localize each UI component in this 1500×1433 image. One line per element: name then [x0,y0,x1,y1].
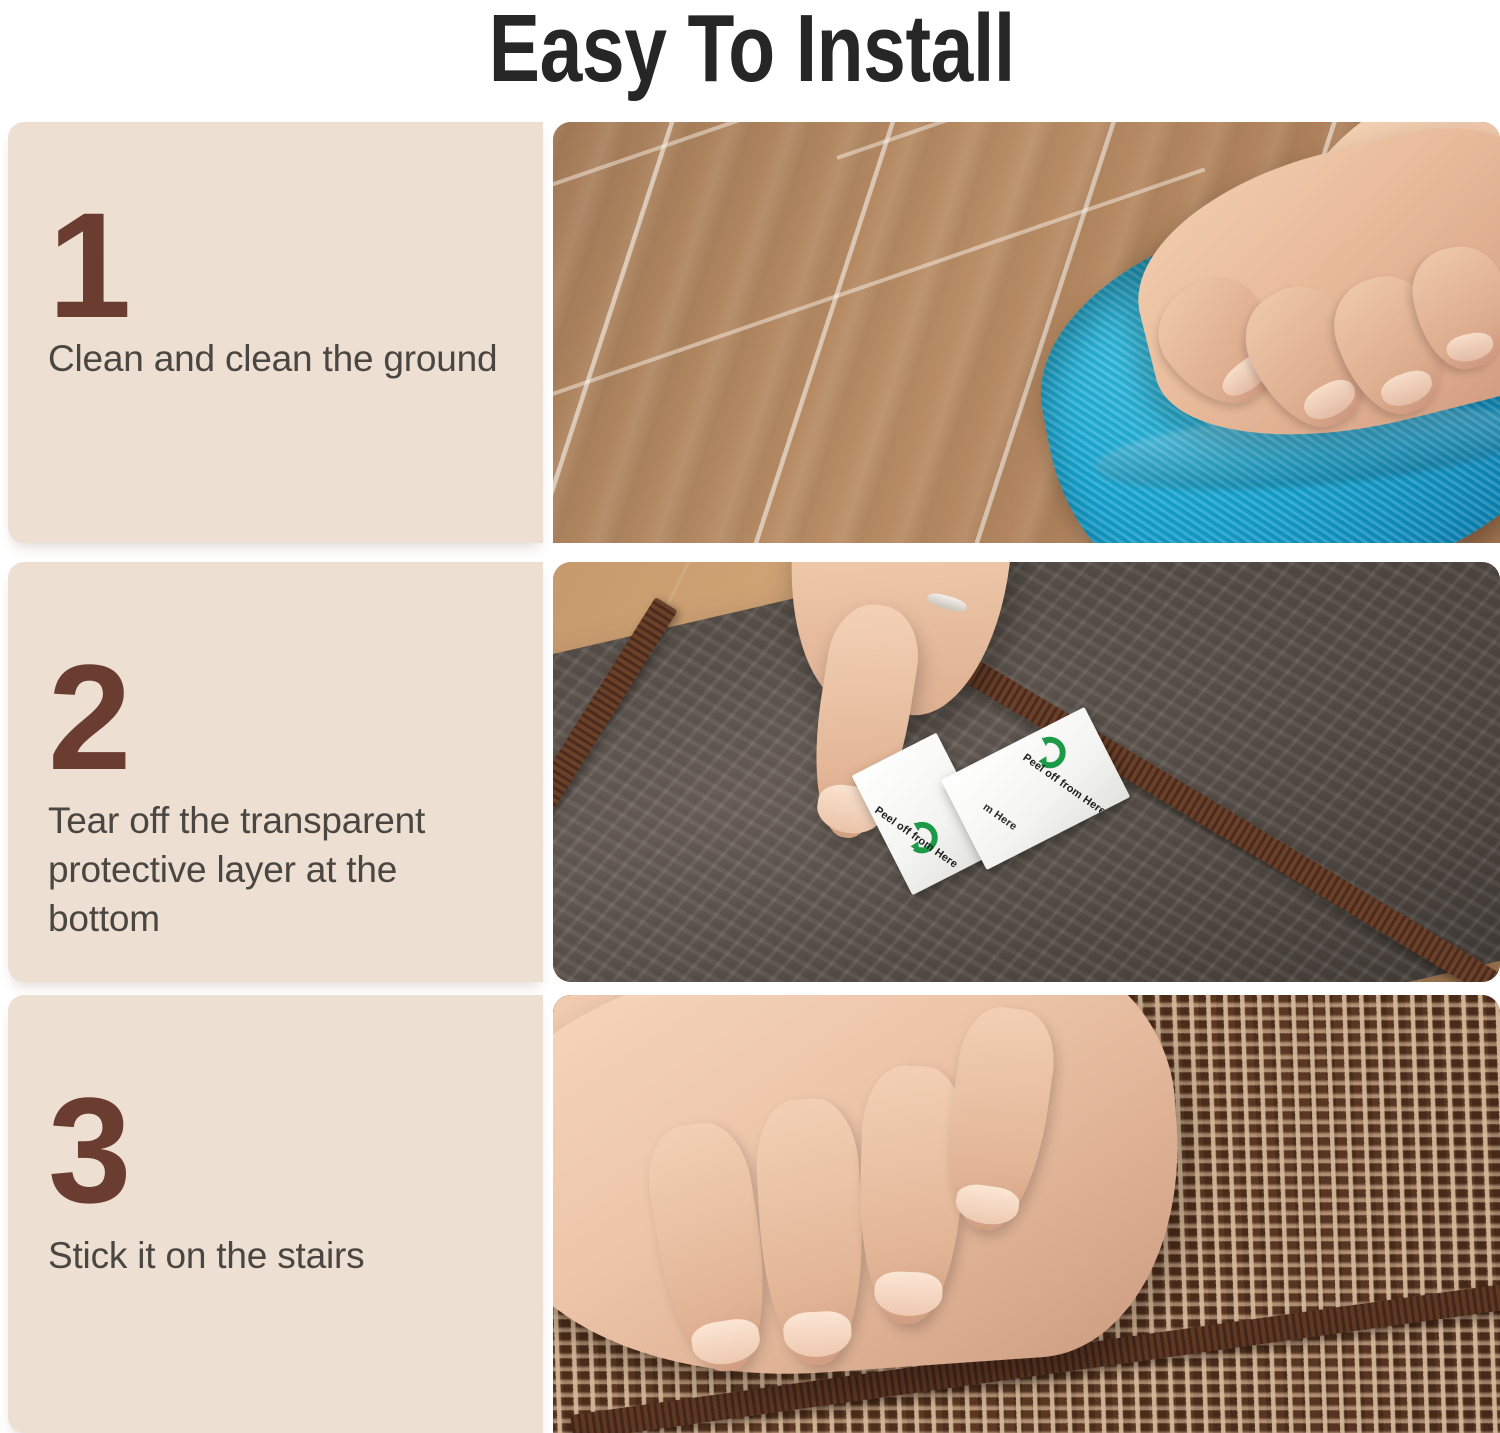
finger [856,1064,967,1325]
fingernail [783,1310,853,1359]
step-1-caption-card: 1 Clean and clean the ground [8,122,543,543]
step-3-text: Stick it on the stairs [48,1231,518,1280]
peel-tab-back-partial-label: m Here [981,802,1019,834]
fingernail [1299,374,1362,428]
peel-tab-scene: Peel off from Here Peel off from Here m … [553,562,1500,982]
step-3-number: 3 [48,1075,129,1225]
step-2-photo: Peel off from Here Peel off from Here m … [553,562,1500,982]
fingernail [954,1182,1022,1228]
step-row-3: 3 Stick it on the stairs [0,995,1500,1433]
page-title: Easy To Install [152,0,1352,104]
step-1-text: Clean and clean the ground [48,334,518,383]
step-2-text: Tear off the transparent protective laye… [48,796,518,943]
fingernail [875,1271,944,1317]
step-1-number: 1 [48,190,129,340]
step-3-photo [553,995,1500,1433]
wood-floor-scene [553,122,1500,543]
step-2-number: 2 [48,642,129,792]
step-2-caption-card: 2 Tear off the transparent protective la… [8,562,543,982]
infographic-page: Easy To Install 1 Clean and clean the gr… [0,0,1500,1433]
step-1-photo [553,122,1500,543]
fingernail [1444,330,1496,366]
step-row-1: 1 Clean and clean the ground [0,122,1500,543]
fingernail [1378,366,1437,413]
step-row-2: 2 Tear off the transparent protective la… [0,562,1500,982]
step-3-caption-card: 3 Stick it on the stairs [8,995,543,1433]
stick-on-stairs-scene [553,995,1500,1433]
fingernail [690,1316,763,1368]
hand [553,995,1192,1395]
finger [754,1096,870,1367]
